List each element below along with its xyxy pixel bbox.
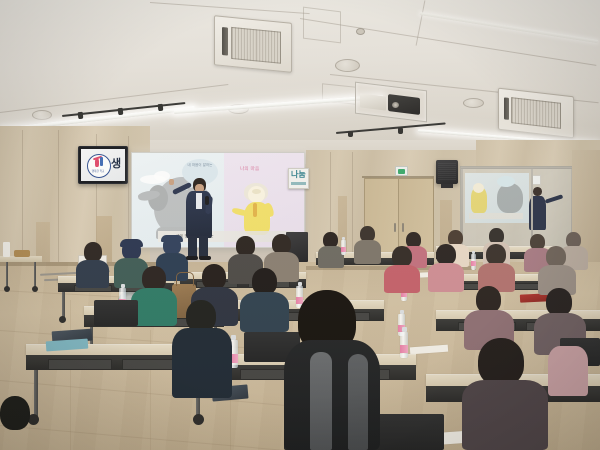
attendee-torso <box>76 260 109 288</box>
jacket-grey-stripe <box>348 354 368 450</box>
wall-seam <box>22 130 23 270</box>
cap <box>120 239 143 247</box>
recessed-ceiling-speaker <box>463 98 484 108</box>
side-table-item <box>3 242 10 257</box>
wall-sign-bar <box>291 182 306 185</box>
stacking-chair <box>94 300 138 326</box>
track-light-head <box>118 108 124 115</box>
table-panel-detail <box>48 359 112 370</box>
attendee-torso <box>384 265 420 293</box>
floor-plank-line <box>70 300 71 450</box>
logo-figure-second <box>100 157 103 166</box>
ceiling-cassette-air-conditioner <box>214 15 292 73</box>
caster <box>4 286 10 292</box>
attendee-mauve-top <box>462 380 548 450</box>
attendee-arm <box>548 346 588 396</box>
reflection-elephant <box>497 183 523 213</box>
reflection-caption <box>469 213 523 219</box>
attendee-head <box>392 246 412 267</box>
track-light-head <box>78 112 84 119</box>
seminar-room-photo: 행복한 학교 생 내 마음이 말하는 나의 마음 생 <box>0 0 600 450</box>
teal-wall-sign: 나눔 <box>288 168 309 189</box>
wall-mounted-monitor[interactable]: 행복한 학교 생 <box>78 146 128 184</box>
track-light-head <box>398 128 403 134</box>
attendee-head <box>486 244 506 265</box>
character-detail <box>253 203 257 217</box>
speaker-bracket <box>441 184 453 188</box>
caster <box>32 286 38 292</box>
reflection-presenter-head <box>533 187 542 196</box>
table-leg <box>62 292 65 318</box>
wall-mounted-speaker <box>436 160 458 184</box>
reflection-presenter-arm <box>545 194 563 203</box>
presenter-hand <box>169 179 174 185</box>
presenter-shoe <box>199 256 211 260</box>
slide-pink-heading: 나의 마음 <box>240 166 259 172</box>
side-table-leg <box>34 262 36 288</box>
water-bottle <box>341 240 346 255</box>
monitor-hangul-text: 생 <box>111 155 121 171</box>
monitor-logo-text: 행복한 학교 <box>87 169 109 173</box>
track-light-head <box>348 131 353 137</box>
side-table-item <box>14 250 30 257</box>
attendee-head <box>84 242 102 262</box>
presenter-shirt <box>196 193 202 209</box>
track-light-head <box>158 104 164 111</box>
projector-lens <box>392 102 399 108</box>
attendee-head <box>272 234 291 254</box>
attendee-head <box>476 286 501 313</box>
attendee-head <box>478 338 524 386</box>
side-table-leg <box>6 262 8 288</box>
recessed-ceiling-speaker <box>32 110 52 120</box>
attendee-torso <box>428 263 464 292</box>
ceiling-access-panel <box>303 7 341 44</box>
presenter-leg <box>188 236 197 258</box>
attendee-torso <box>240 292 289 332</box>
caster <box>193 414 204 425</box>
caster <box>59 316 66 323</box>
wall-seam <box>58 130 59 270</box>
reflection-character-head <box>473 183 484 193</box>
presenter-shoe <box>186 256 198 260</box>
attendee-head <box>546 246 566 267</box>
attendee-head <box>436 244 456 265</box>
emergency-exit-sign <box>395 166 408 176</box>
presenter-leg <box>199 236 208 258</box>
attendee-head <box>252 268 277 295</box>
microphone <box>205 196 209 205</box>
water-bottle <box>400 332 408 358</box>
slide-speech-bubble-text: 내 마음이 말하는 <box>182 163 218 167</box>
jacket-grey-stripe <box>310 352 332 450</box>
door-header <box>362 176 434 178</box>
handbag-handle <box>176 272 194 286</box>
attendee-head <box>0 396 30 430</box>
cap <box>161 235 183 242</box>
reflection-bubble <box>497 176 515 187</box>
recessed-ceiling-speaker <box>335 59 360 72</box>
wall-sign-glyph: 나눔 <box>291 171 306 178</box>
mirror-wall-panel <box>460 166 574 256</box>
attendee-torso <box>354 240 381 264</box>
character-face-shade <box>252 189 261 194</box>
attendee-head <box>236 236 255 256</box>
table-leg <box>34 370 38 418</box>
attendee-torso <box>172 328 232 398</box>
attendee-head <box>546 288 572 316</box>
ceiling-cassette-air-conditioner <box>498 88 574 139</box>
water-bottle <box>471 254 476 270</box>
sprinkler-head <box>356 28 365 35</box>
